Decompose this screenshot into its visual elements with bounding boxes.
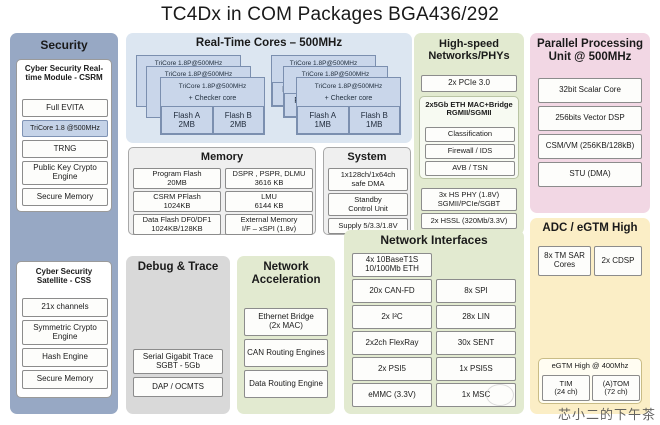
netif-item-flexray[interactable]: 2x2ch FlexRay — [352, 331, 432, 355]
netif-item-10baset1s[interactable]: 4x 10BaseT1S 10/100Mb ETH — [352, 253, 432, 277]
csrm-item-pkce[interactable]: Public Key Crypto Engine — [22, 161, 108, 185]
debug-heading: Debug & Trace — [126, 261, 230, 274]
memory-cell-external-memory[interactable]: External Memory I/F – xSPI (1.8v) — [225, 214, 313, 235]
ppu-item-csm-vm[interactable]: CSM/VM (256KB/128kB) — [538, 134, 642, 159]
panel-security: Security Cyber Security Real-time Module… — [10, 33, 118, 414]
memory-cell-csrm-pflash[interactable]: CSRM PFlash 1024KB — [133, 191, 221, 212]
eth-item-avb-tsn[interactable]: AVB / TSN — [425, 161, 515, 176]
eth-item-firewall-ids[interactable]: Firewall / IDS — [425, 144, 515, 159]
netif-heading: Network Interfaces — [344, 234, 524, 247]
csrm-title: Cyber Security Real-time Module - CSRM — [17, 65, 111, 83]
css-item-symmetric-crypto[interactable]: Symmetric Crypto Engine — [22, 320, 108, 345]
css-item-channels[interactable]: 21x channels — [22, 298, 108, 317]
panel-network-acceleration: Network Acceleration Ethernet Bridge (2x… — [237, 256, 335, 414]
ppu-item-stu-dma[interactable]: STU (DMA) — [538, 162, 642, 187]
flash-b-left[interactable]: Flash B 2MB — [213, 106, 265, 134]
netif-item-i2c[interactable]: 2x I²C — [352, 305, 432, 329]
csrm-item-tricore[interactable]: TriCore 1.8 @500MHz — [22, 120, 108, 137]
panel-adc-egtm: ADC / eGTM High 8x TM SAR Cores 2x CDSP … — [530, 218, 650, 414]
ppu-item-vector-dsp[interactable]: 256bits Vector DSP — [538, 106, 642, 131]
system-item-safe-dma[interactable]: 1x128ch/1x64ch safe DMA — [328, 168, 408, 191]
page-title: TC4Dx in COM Packages BGA436/292 — [0, 4, 660, 26]
highspeed-hssl[interactable]: 2x HSSL (320Mb/3.3V) — [421, 213, 517, 229]
memory-cell-program-flash[interactable]: Program Flash 20MB — [133, 168, 221, 189]
eth-title-line2: RGMII/SGMII — [420, 109, 518, 117]
netif-item-can-fd[interactable]: 20x CAN-FD — [352, 279, 432, 303]
checker-core-label-left: + Checker core — [161, 92, 264, 104]
ppu-heading: Parallel Processing Unit @ 500MHz — [530, 38, 650, 64]
netaccel-item-data-routing[interactable]: Data Routing Engine — [244, 370, 328, 398]
flash-a-left[interactable]: Flash A 2MB — [161, 106, 213, 134]
netif-item-psi5[interactable]: 2x PSI5 — [352, 357, 432, 381]
css-item-hash-engine[interactable]: Hash Engine — [22, 348, 108, 367]
css-title: Cyber Security Satellite - CSS — [17, 268, 111, 286]
netif-item-psi5s[interactable]: 1x PSI5S — [436, 357, 516, 381]
netif-item-sent[interactable]: 30x SENT — [436, 331, 516, 355]
highspeed-heading: High-speed Networks/PHYs — [414, 38, 524, 63]
adc-item-tm-sar-cores[interactable]: 8x TM SAR Cores — [538, 246, 591, 276]
group-css: Cyber Security Satellite - CSS 21x chann… — [16, 261, 112, 398]
group-eth-bridge: 2x5Gb ETH MAC+Bridge RGMII/SGMII Classif… — [419, 96, 519, 179]
egtm-item-tim[interactable]: TIM (24 ch) — [542, 375, 590, 401]
netif-item-spi[interactable]: 8x SPI — [436, 279, 516, 303]
panel-network-interfaces: Network Interfaces 4x 10BaseT1S 10/100Mb… — [344, 230, 524, 414]
security-heading: Security — [10, 39, 118, 52]
adc-heading: ADC / eGTM High — [530, 222, 650, 235]
system-heading: System — [324, 151, 410, 163]
diagram-canvas: TC4Dx in COM Packages BGA436/292 Securit… — [0, 0, 660, 425]
group-egtm-high: eGTM High @ 400Mhz TIM (24 ch) (A)TOM (7… — [538, 358, 642, 404]
debug-item-sgbt[interactable]: Serial Gigabit Trace SGBT - 5Gb — [133, 349, 223, 374]
memory-cell-data-flash[interactable]: Data Flash DF0/DF1 1024KB/128KB — [133, 214, 221, 235]
debug-item-dap-ocmts[interactable]: DAP / OCMTS — [133, 377, 223, 397]
netaccel-item-ethernet-bridge[interactable]: Ethernet Bridge (2x MAC) — [244, 308, 328, 336]
netif-item-lin[interactable]: 28x LIN — [436, 305, 516, 329]
csrm-item-full-evita[interactable]: Full EVITA — [22, 99, 108, 117]
memory-heading: Memory — [129, 151, 315, 163]
watermark-ring-icon — [486, 384, 514, 406]
checker-core-label-right: + Checker core — [297, 92, 400, 104]
realtime-heading: Real-Time Cores – 500MHz — [126, 37, 412, 50]
eth-item-classification[interactable]: Classification — [425, 127, 515, 142]
netaccel-heading: Network Acceleration — [237, 261, 335, 287]
egtm-title: eGTM High @ 400Mhz — [539, 362, 641, 370]
adc-item-cdsp[interactable]: 2x CDSP — [594, 246, 642, 276]
highspeed-pcie[interactable]: 2x PCIe 3.0 — [421, 75, 517, 92]
netif-item-emmc[interactable]: eMMC (3.3V) — [352, 383, 432, 407]
memory-cell-dspr-pspr-dlmu[interactable]: DSPR , PSPR, DLMU 3616 KB — [225, 168, 313, 189]
panel-realtime-cores: Real-Time Cores – 500MHz TriCore 1.8P@50… — [126, 33, 412, 143]
flash-b-right[interactable]: Flash B 1MB — [349, 106, 401, 134]
panel-highspeed: High-speed Networks/PHYs 2x PCIe 3.0 2x5… — [414, 33, 524, 235]
panel-debug-trace: Debug & Trace Serial Gigabit Trace SGBT … — [126, 256, 230, 414]
group-system: System 1x128ch/1x64ch safe DMA Standby C… — [323, 147, 411, 235]
ppu-item-scalar-core[interactable]: 32bit Scalar Core — [538, 78, 642, 103]
panel-ppu: Parallel Processing Unit @ 500MHz 32bit … — [530, 33, 650, 213]
csrm-item-secure-memory[interactable]: Secure Memory — [22, 188, 108, 206]
watermark-text: 芯小二的下午茶 — [558, 404, 656, 423]
css-item-secure-memory[interactable]: Secure Memory — [22, 370, 108, 389]
highspeed-hs-phy[interactable]: 3x HS PHY (1.8V) SGMII/PCIe/SGBT — [421, 188, 517, 211]
egtm-item-atom[interactable]: (A)TOM (72 ch) — [592, 375, 640, 401]
group-csrm: Cyber Security Real-time Module - CSRM F… — [16, 59, 112, 212]
flash-a-right[interactable]: Flash A 1MB — [297, 106, 349, 134]
memory-cell-lmu[interactable]: LMU 6144 KB — [225, 191, 313, 212]
system-item-standby-control-unit[interactable]: Standby Control Unit — [328, 193, 408, 216]
group-memory: Memory Program Flash 20MB DSPR , PSPR, D… — [128, 147, 316, 235]
core-card-front-left[interactable]: TriCore 1.8P@500MHz + Checker core Flash… — [160, 77, 265, 135]
flash-row-right: Flash A 1MB Flash B 1MB — [297, 106, 400, 134]
core-card-front-right[interactable]: TriCore 1.8P@500MHz + Checker core Flash… — [296, 77, 401, 135]
csrm-item-trng[interactable]: TRNG — [22, 140, 108, 158]
netaccel-item-can-routing[interactable]: CAN Routing Engines — [244, 339, 328, 367]
flash-row-left: Flash A 2MB Flash B 2MB — [161, 106, 264, 134]
